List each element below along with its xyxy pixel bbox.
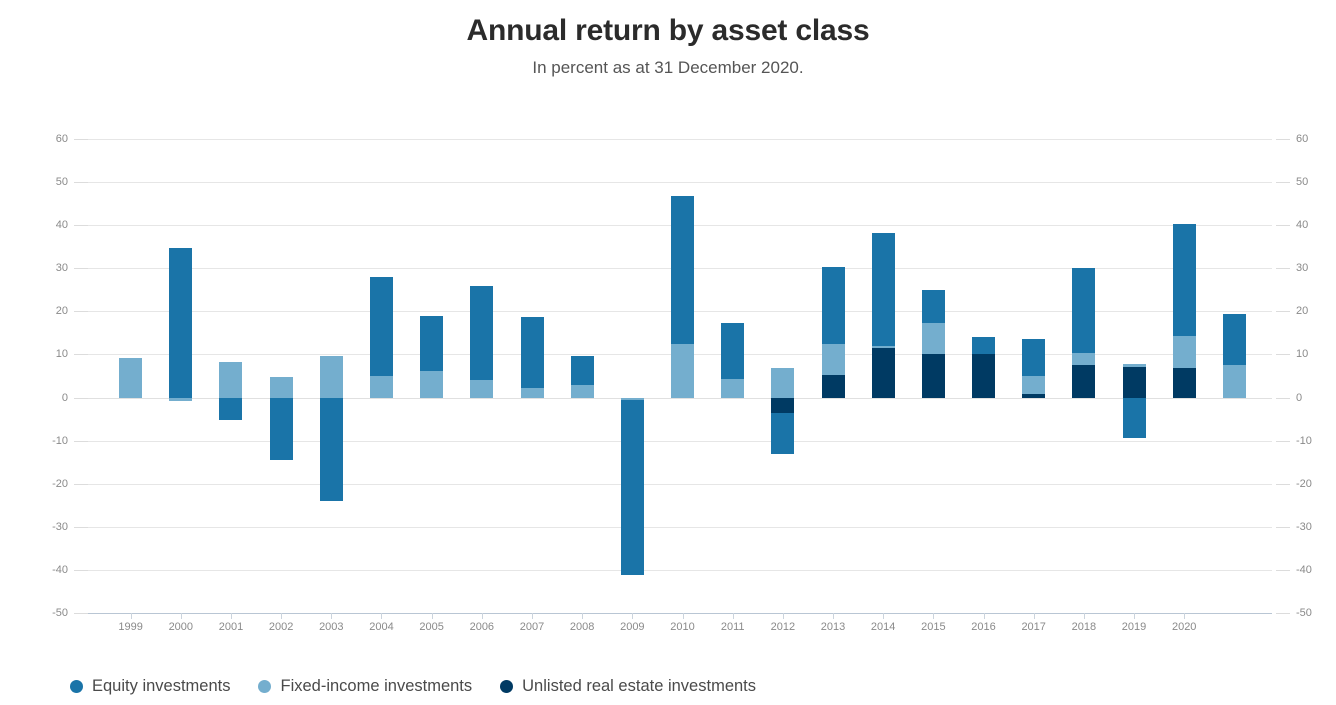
y-axis-tick-label-left: 30 [28, 263, 68, 274]
legend-swatch-icon [500, 680, 513, 693]
y-axis-tick-mark-left [74, 139, 88, 140]
page-title: Annual return by asset class [0, 0, 1336, 48]
y-axis-tick-mark-left [74, 613, 88, 614]
y-axis-tick-label-right: 0 [1296, 393, 1336, 404]
bar-segment-real-estate[interactable] [771, 398, 794, 413]
y-axis-tick-mark-left [74, 398, 88, 399]
y-axis-tick-mark-right [1276, 570, 1290, 571]
chart-subtitle: In percent as at 31 December 2020. [0, 48, 1336, 78]
bar-segment-fixed-income[interactable] [219, 362, 242, 397]
bar-group[interactable] [771, 139, 794, 613]
y-axis-tick-mark-right [1276, 613, 1290, 614]
bar-segment-real-estate[interactable] [1173, 368, 1196, 397]
bar-segment-fixed-income[interactable] [420, 371, 443, 398]
x-axis-tick-mark [381, 613, 382, 619]
x-axis-tick-mark [582, 613, 583, 619]
y-axis-tick-label-left: -10 [28, 436, 68, 447]
bar-group[interactable] [721, 139, 744, 613]
bar-segment-real-estate[interactable] [972, 354, 995, 397]
bar-segment-fixed-income[interactable] [872, 346, 895, 348]
bar-segment-equity[interactable] [219, 398, 242, 421]
legend-item-fixed-income[interactable]: Fixed-income investments [258, 678, 472, 695]
x-axis-tick-mark [532, 613, 533, 619]
bar-group[interactable] [571, 139, 594, 613]
bar-segment-fixed-income[interactable] [1173, 336, 1196, 368]
bar-group[interactable] [320, 139, 343, 613]
bar-segment-real-estate[interactable] [1123, 367, 1146, 398]
y-axis-tick-label-right: 30 [1296, 263, 1336, 274]
x-axis-tick-mark [632, 613, 633, 619]
y-axis-tick-mark-left [74, 484, 88, 485]
bar-segment-equity[interactable] [621, 400, 644, 575]
y-axis-tick-label-right: 60 [1296, 134, 1336, 145]
y-axis-tick-label-left: -30 [28, 522, 68, 533]
y-axis-tick-label-right: -30 [1296, 522, 1336, 533]
x-axis-tick-mark [1184, 613, 1185, 619]
chart-page: Annual return by asset class In percent … [0, 0, 1336, 705]
bar-segment-fixed-income[interactable] [721, 379, 744, 397]
bar-group[interactable] [922, 139, 945, 613]
x-axis-line [88, 613, 1272, 614]
x-axis-tick-mark [1034, 613, 1035, 619]
y-axis-tick-mark-right [1276, 182, 1290, 183]
x-axis-tick-mark [733, 613, 734, 619]
bar-segment-fixed-income[interactable] [1123, 364, 1146, 366]
x-axis-tick-mark [1134, 613, 1135, 619]
y-axis-tick-mark-right [1276, 354, 1290, 355]
bar-segment-equity[interactable] [270, 398, 293, 461]
bar-group[interactable] [420, 139, 443, 613]
bar-segment-equity[interactable] [872, 233, 895, 346]
bar-segment-real-estate[interactable] [922, 354, 945, 397]
legend-item-real-estate[interactable]: Unlisted real estate investments [500, 678, 756, 695]
y-axis-tick-mark-right [1276, 441, 1290, 442]
bar-segment-fixed-income[interactable] [1223, 365, 1246, 397]
bar-group[interactable] [1223, 139, 1246, 613]
legend-swatch-icon [258, 680, 271, 693]
x-axis-tick-mark [833, 613, 834, 619]
bar-group[interactable] [219, 139, 242, 613]
bar-group[interactable] [972, 139, 995, 613]
bar-group[interactable] [119, 139, 142, 613]
y-axis-tick-mark-left [74, 268, 88, 269]
legend-item-label: Fixed-income investments [280, 678, 472, 695]
bar-group[interactable] [1072, 139, 1095, 613]
bar-segment-real-estate[interactable] [1072, 365, 1095, 397]
y-axis-tick-mark-right [1276, 139, 1290, 140]
x-axis-tick-mark [131, 613, 132, 619]
x-axis-tick-mark [281, 613, 282, 619]
y-axis-tick-label-right: -50 [1296, 608, 1336, 619]
bar-segment-fixed-income[interactable] [470, 380, 493, 397]
x-axis-tick-mark [432, 613, 433, 619]
bar-segment-fixed-income[interactable] [822, 344, 845, 375]
bar-segment-equity[interactable] [1072, 268, 1095, 352]
x-axis-tick-mark [883, 613, 884, 619]
legend-item-label: Unlisted real estate investments [522, 678, 756, 695]
y-axis-tick-mark-left [74, 570, 88, 571]
bar-group[interactable] [169, 139, 192, 613]
bar-series [88, 139, 1272, 613]
y-axis-tick-label-right: -40 [1296, 565, 1336, 576]
chart-legend: Equity investmentsFixed-income investmen… [70, 678, 756, 695]
bar-segment-real-estate[interactable] [872, 348, 895, 398]
y-axis-tick-label-right: 20 [1296, 306, 1336, 317]
legend-item-label: Equity investments [92, 678, 230, 695]
bar-segment-fixed-income[interactable] [922, 323, 945, 354]
y-axis-tick-mark-left [74, 182, 88, 183]
x-axis-tick-label: 2020 [1154, 622, 1214, 633]
legend-swatch-icon [70, 680, 83, 693]
y-axis-tick-label-right: 40 [1296, 220, 1336, 231]
bar-segment-equity[interactable] [1022, 339, 1045, 376]
x-axis-tick-mark [181, 613, 182, 619]
bar-segment-fixed-income[interactable] [571, 385, 594, 398]
y-axis-tick-mark-right [1276, 268, 1290, 269]
bar-segment-equity[interactable] [822, 267, 845, 344]
y-axis-tick-mark-left [74, 225, 88, 226]
bar-segment-equity[interactable] [420, 316, 443, 371]
bar-segment-equity[interactable] [571, 356, 594, 384]
bar-segment-fixed-income[interactable] [521, 388, 544, 398]
y-axis-tick-label-left: 50 [28, 177, 68, 188]
y-axis-tick-label-left: 40 [28, 220, 68, 231]
bar-segment-equity[interactable] [922, 290, 945, 324]
x-axis-tick-mark [482, 613, 483, 619]
bar-segment-equity[interactable] [370, 277, 393, 376]
bar-segment-real-estate[interactable] [1022, 394, 1045, 397]
y-axis-tick-mark-right [1276, 484, 1290, 485]
plot-area: 6050403020100-10-20-30-40-50 60504030201… [0, 120, 1336, 640]
bar-segment-fixed-income[interactable] [320, 356, 343, 397]
bar-group[interactable] [370, 139, 393, 613]
bar-segment-equity[interactable] [972, 337, 995, 354]
bar-segment-fixed-income[interactable] [169, 398, 192, 401]
bar-segment-equity[interactable] [521, 317, 544, 388]
y-axis-tick-label-left: 0 [28, 393, 68, 404]
bar-segment-fixed-income[interactable] [771, 368, 794, 397]
bar-segment-equity[interactable] [721, 323, 744, 379]
bar-group[interactable] [1173, 139, 1196, 613]
y-axis-tick-label-left: -40 [28, 565, 68, 576]
y-axis-tick-label-right: 50 [1296, 177, 1336, 188]
y-axis-tick-label-left: 10 [28, 349, 68, 360]
y-axis-tick-mark-left [74, 441, 88, 442]
x-axis-tick-mark [933, 613, 934, 619]
bar-segment-equity[interactable] [470, 286, 493, 381]
bar-segment-equity[interactable] [771, 413, 794, 454]
y-axis-tick-mark-right [1276, 225, 1290, 226]
y-axis-tick-label-right: -20 [1296, 479, 1336, 490]
x-axis-tick-mark [231, 613, 232, 619]
y-axis-tick-mark-left [74, 527, 88, 528]
bar-segment-fixed-income[interactable] [370, 376, 393, 398]
bar-segment-equity[interactable] [1123, 398, 1146, 439]
bar-group[interactable] [671, 139, 694, 613]
x-axis-tick-mark [783, 613, 784, 619]
y-axis-tick-mark-left [74, 311, 88, 312]
y-axis-tick-mark-right [1276, 398, 1290, 399]
bar-segment-fixed-income[interactable] [671, 344, 694, 398]
y-axis-tick-label-left: 20 [28, 306, 68, 317]
bar-segment-fixed-income[interactable] [119, 358, 142, 397]
y-axis-tick-mark-left [74, 354, 88, 355]
y-axis-tick-mark-right [1276, 311, 1290, 312]
bar-group[interactable] [521, 139, 544, 613]
bar-segment-fixed-income[interactable] [1072, 353, 1095, 365]
y-axis-tick-label-right: 10 [1296, 349, 1336, 360]
bar-segment-equity[interactable] [169, 248, 192, 398]
bar-group[interactable] [822, 139, 845, 613]
y-axis-tick-label-left: 60 [28, 134, 68, 145]
bar-segment-real-estate[interactable] [822, 375, 845, 397]
bar-segment-equity[interactable] [1223, 314, 1246, 365]
y-axis-tick-label-right: -10 [1296, 436, 1336, 447]
chart-header: Annual return by asset class In percent … [0, 0, 1336, 78]
bar-segment-equity[interactable] [320, 398, 343, 501]
bar-group[interactable] [1123, 139, 1146, 613]
bar-segment-equity[interactable] [1173, 224, 1196, 336]
bar-group[interactable] [1022, 139, 1045, 613]
bar-group[interactable] [270, 139, 293, 613]
y-axis-tick-label-left: -20 [28, 479, 68, 490]
y-axis-tick-mark-right [1276, 527, 1290, 528]
bar-segment-fixed-income[interactable] [270, 377, 293, 398]
plot-inner [88, 139, 1272, 613]
x-axis-tick-mark [984, 613, 985, 619]
bar-segment-equity[interactable] [671, 196, 694, 343]
bar-segment-fixed-income[interactable] [1022, 376, 1045, 394]
x-axis-tick-mark [683, 613, 684, 619]
x-axis-tick-mark [1084, 613, 1085, 619]
bar-group[interactable] [470, 139, 493, 613]
bar-group[interactable] [621, 139, 644, 613]
y-axis-tick-label-left: -50 [28, 608, 68, 619]
x-axis-tick-mark [331, 613, 332, 619]
bar-group[interactable] [872, 139, 895, 613]
legend-item-equity[interactable]: Equity investments [70, 678, 230, 695]
